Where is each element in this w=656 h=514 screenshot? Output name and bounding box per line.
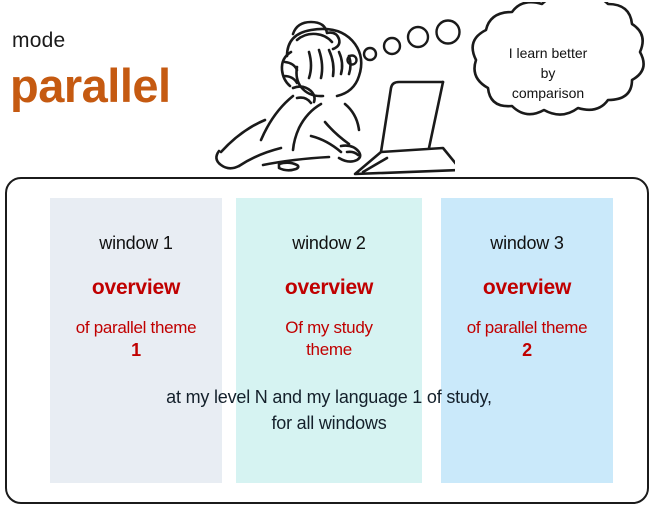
thought-bubble: I learn better by comparison — [440, 2, 656, 142]
mode-value: parallel — [10, 62, 171, 109]
window-1-heading: overview — [50, 277, 222, 298]
window-panel-1[interactable]: window 1 overview of parallel theme 1 — [50, 198, 222, 483]
window-1-number: 1 — [52, 339, 220, 362]
window-1-description: of parallel theme 1 — [50, 317, 222, 362]
window-3-description: of parallel theme 2 — [441, 317, 613, 362]
windows-container: window 1 overview of parallel theme 1 wi… — [5, 177, 649, 504]
window-2-title: window 2 — [236, 234, 422, 252]
window-3-title: window 3 — [441, 234, 613, 252]
window-2-description: Of my study theme — [236, 317, 422, 361]
window-panel-2[interactable]: window 2 overview Of my study theme — [236, 198, 422, 483]
window-3-number: 2 — [443, 339, 611, 362]
window-panel-3[interactable]: window 3 overview of parallel theme 2 — [441, 198, 613, 483]
window-1-desc-text: of parallel theme — [76, 318, 197, 337]
window-3-desc-text: of parallel theme — [467, 318, 588, 337]
window-1-title: window 1 — [50, 234, 222, 252]
window-2-desc-text: Of my study — [285, 318, 372, 337]
panels-row: window 1 overview of parallel theme 1 wi… — [7, 179, 647, 502]
mode-label: mode — [12, 30, 65, 51]
window-2-desc-text-2: theme — [306, 340, 352, 359]
window-2-heading: overview — [236, 277, 422, 298]
window-3-heading: overview — [441, 277, 613, 298]
